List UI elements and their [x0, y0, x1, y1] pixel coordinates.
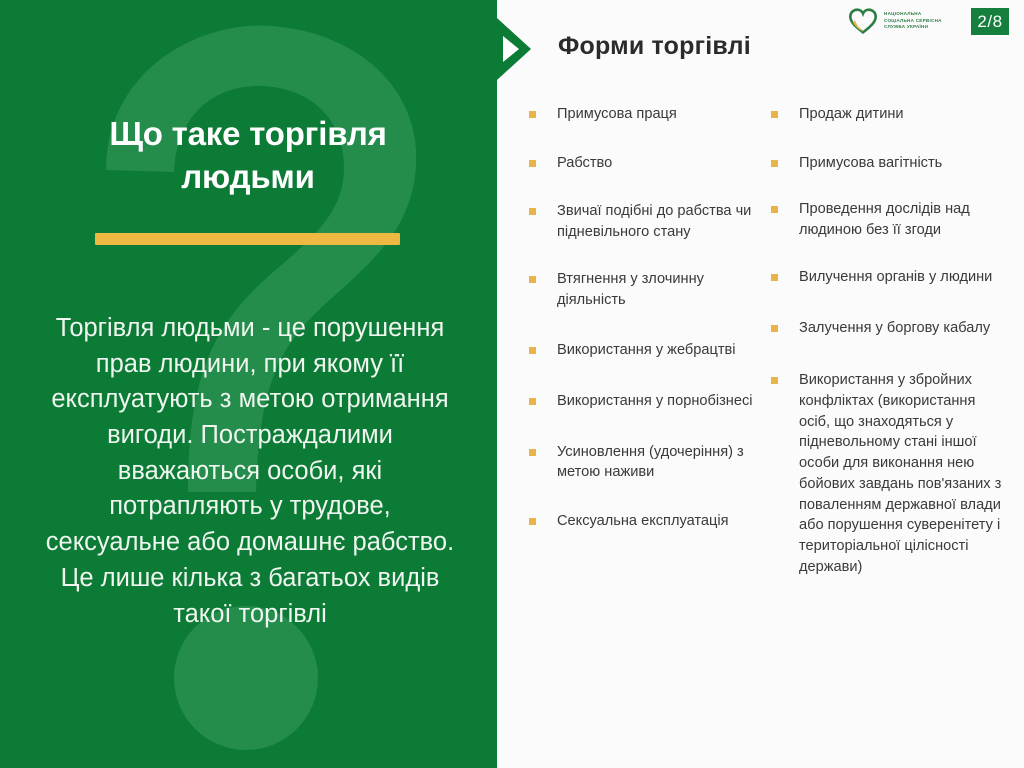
bullet-item: Рабство — [529, 153, 754, 174]
bullet-square-icon — [771, 377, 778, 384]
bullet-label: Примусова вагітність — [799, 153, 942, 174]
bullet-item: Використання у жебрацтві — [529, 340, 754, 361]
bullet-label: Звичаї подібні до рабства чи підневільно… — [557, 201, 754, 242]
organization-logo: Національна Соціальна Сервісна Служба Ук… — [849, 8, 942, 34]
heart-icon — [849, 8, 877, 34]
bullet-label: Усиновлення (удочеріння) з метою наживи — [557, 442, 754, 483]
bullet-item: Сексуальна експлуатація — [529, 511, 754, 532]
bullet-item: Втягнення у злочинну діяльність — [529, 269, 754, 310]
bullet-item: Використання у збройних конфліктах (вико… — [771, 370, 1009, 577]
bullet-square-icon — [529, 208, 536, 215]
bullet-label: Вилучення органів у людини — [799, 267, 992, 288]
section-title: Форми торгівлі — [558, 32, 751, 61]
bullet-label: Продаж дитини — [799, 104, 904, 125]
bullet-item: Звичаї подібні до рабства чи підневільно… — [529, 201, 754, 242]
bullet-label: Проведення дослідів над людиною без її з… — [799, 199, 1009, 240]
bullet-item: Усиновлення (удочеріння) з метою наживи — [529, 442, 754, 483]
bullet-square-icon — [529, 276, 536, 283]
panel-body-text: Торгівля людьми - це порушення прав люди… — [40, 311, 460, 632]
bullet-label: Сексуальна експлуатація — [557, 511, 729, 532]
left-panel-content: Що таке торгівля людьми Торгівля людьми … — [0, 0, 497, 768]
bullet-square-icon — [529, 160, 536, 167]
logo-line-3: Служба України — [884, 24, 942, 30]
bullet-square-icon — [771, 160, 778, 167]
bullet-item: Використання у порнобізнесі — [529, 391, 754, 412]
bullet-square-icon — [529, 518, 536, 525]
bullet-square-icon — [529, 449, 536, 456]
bullet-label: Використання у жебрацтві — [557, 340, 736, 361]
bullet-label: Використання у порнобізнесі — [557, 391, 753, 412]
bullet-column-left: Примусова працяРабствоЗвичаї подібні до … — [529, 104, 754, 532]
bullet-item: Продаж дитини — [771, 104, 1009, 125]
bullet-label: Використання у збройних конфліктах (вико… — [799, 370, 1009, 577]
bullet-label: Рабство — [557, 153, 612, 174]
bullet-column-right: Продаж дитиниПримусова вагітністьПроведе… — [771, 104, 1009, 578]
page-number-badge: 2/8 — [971, 8, 1009, 35]
logo-text-block: Національна Соціальна Сервісна Служба Ук… — [884, 11, 942, 30]
bullet-item: Вилучення органів у людини — [771, 267, 1009, 288]
title-gold-divider — [95, 233, 400, 245]
slide-root: Що таке торгівля людьми Торгівля людьми … — [0, 0, 1024, 768]
bullet-label: Втягнення у злочинну діяльність — [557, 269, 754, 310]
left-green-panel: Що таке торгівля людьми Торгівля людьми … — [0, 0, 497, 768]
bullet-square-icon — [529, 111, 536, 118]
bullet-item: Залучення у боргову кабалу — [771, 318, 1009, 339]
bullet-square-icon — [771, 111, 778, 118]
chevron-right-icon — [497, 18, 545, 80]
bullet-item: Проведення дослідів над людиною без її з… — [771, 199, 1009, 240]
page-title: Що таке торгівля людьми — [48, 113, 448, 199]
bullet-square-icon — [771, 274, 778, 281]
bullet-square-icon — [529, 398, 536, 405]
bullet-square-icon — [529, 347, 536, 354]
bullet-item: Примусова праця — [529, 104, 754, 125]
bullet-item: Примусова вагітність — [771, 153, 1009, 174]
bullet-label: Примусова праця — [557, 104, 677, 125]
bullet-label: Залучення у боргову кабалу — [799, 318, 990, 339]
bullet-square-icon — [771, 325, 778, 332]
bullet-square-icon — [771, 206, 778, 213]
